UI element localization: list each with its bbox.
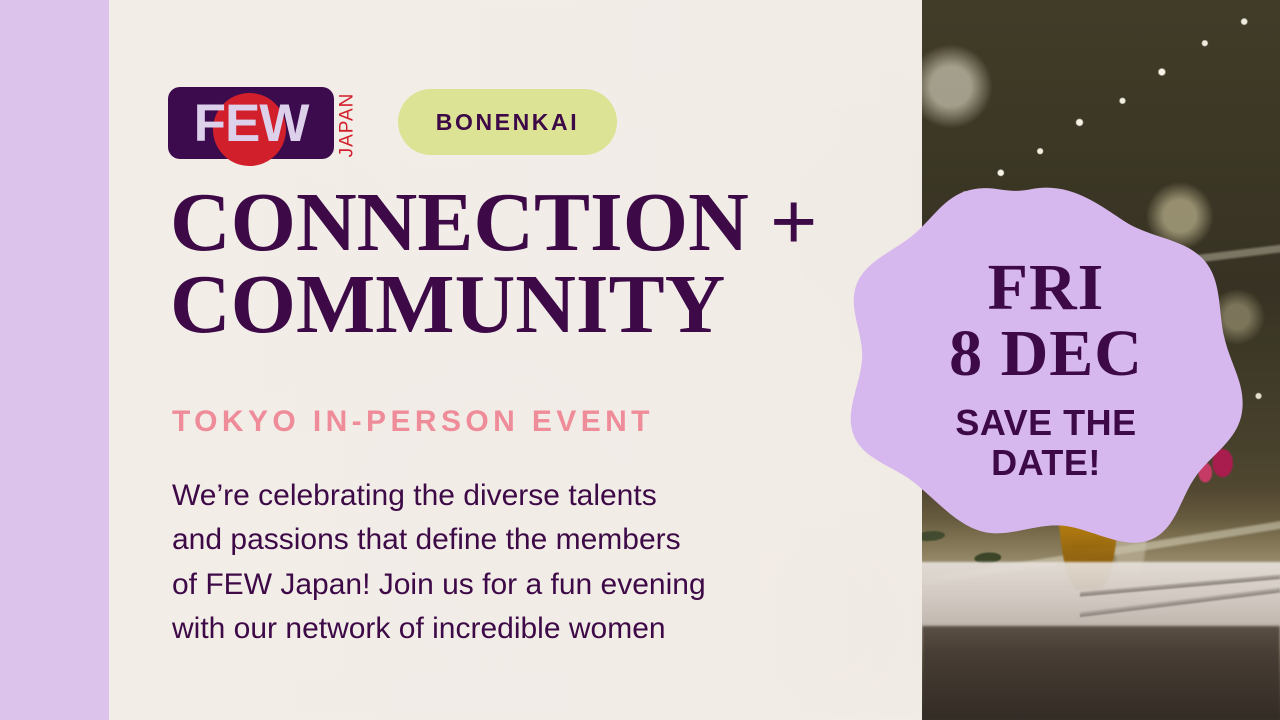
headline-line-1: CONNECTION +	[170, 182, 860, 264]
photo-table-edge	[922, 626, 1280, 720]
event-poster: FEW JAPAN BONENKAI CONNECTION + COMMUNIT…	[0, 0, 1280, 720]
event-subtitle: TOKYO IN-PERSON EVENT	[172, 405, 654, 439]
description-line-4: with our network of incredible women	[172, 607, 832, 651]
badge-content: FRI 8 DEC SAVE THE DATE!	[846, 186, 1246, 548]
few-japan-logo: FEW JAPAN	[168, 85, 368, 163]
description-line-3: of FEW Japan! Join us for a fun evening	[172, 563, 832, 607]
logo-region-label: JAPAN	[336, 89, 358, 161]
headline-line-2: COMMUNITY	[170, 264, 860, 346]
logo-region-text: JAPAN	[336, 93, 358, 158]
description-line-2: and passions that define the members	[172, 518, 832, 562]
bonenkai-tag: BONENKAI	[398, 89, 617, 155]
bonenkai-tag-label: BONENKAI	[436, 109, 579, 136]
page-title: CONNECTION + COMMUNITY	[170, 182, 860, 347]
save-the-date-badge: FRI 8 DEC SAVE THE DATE!	[846, 186, 1246, 548]
logo-wordmark: FEW	[168, 87, 334, 159]
badge-date-block: FRI 8 DEC	[949, 255, 1143, 387]
left-accent-bar	[0, 0, 109, 720]
description-line-1: We’re celebrating the diverse talents	[172, 474, 832, 518]
badge-date: 8 DEC	[949, 321, 1143, 387]
photo-cutlery	[1080, 569, 1280, 627]
event-description: We’re celebrating the diverse talents an…	[172, 474, 832, 652]
badge-call-to-action: SAVE THE DATE!	[921, 403, 1171, 484]
badge-weekday: FRI	[949, 255, 1143, 321]
